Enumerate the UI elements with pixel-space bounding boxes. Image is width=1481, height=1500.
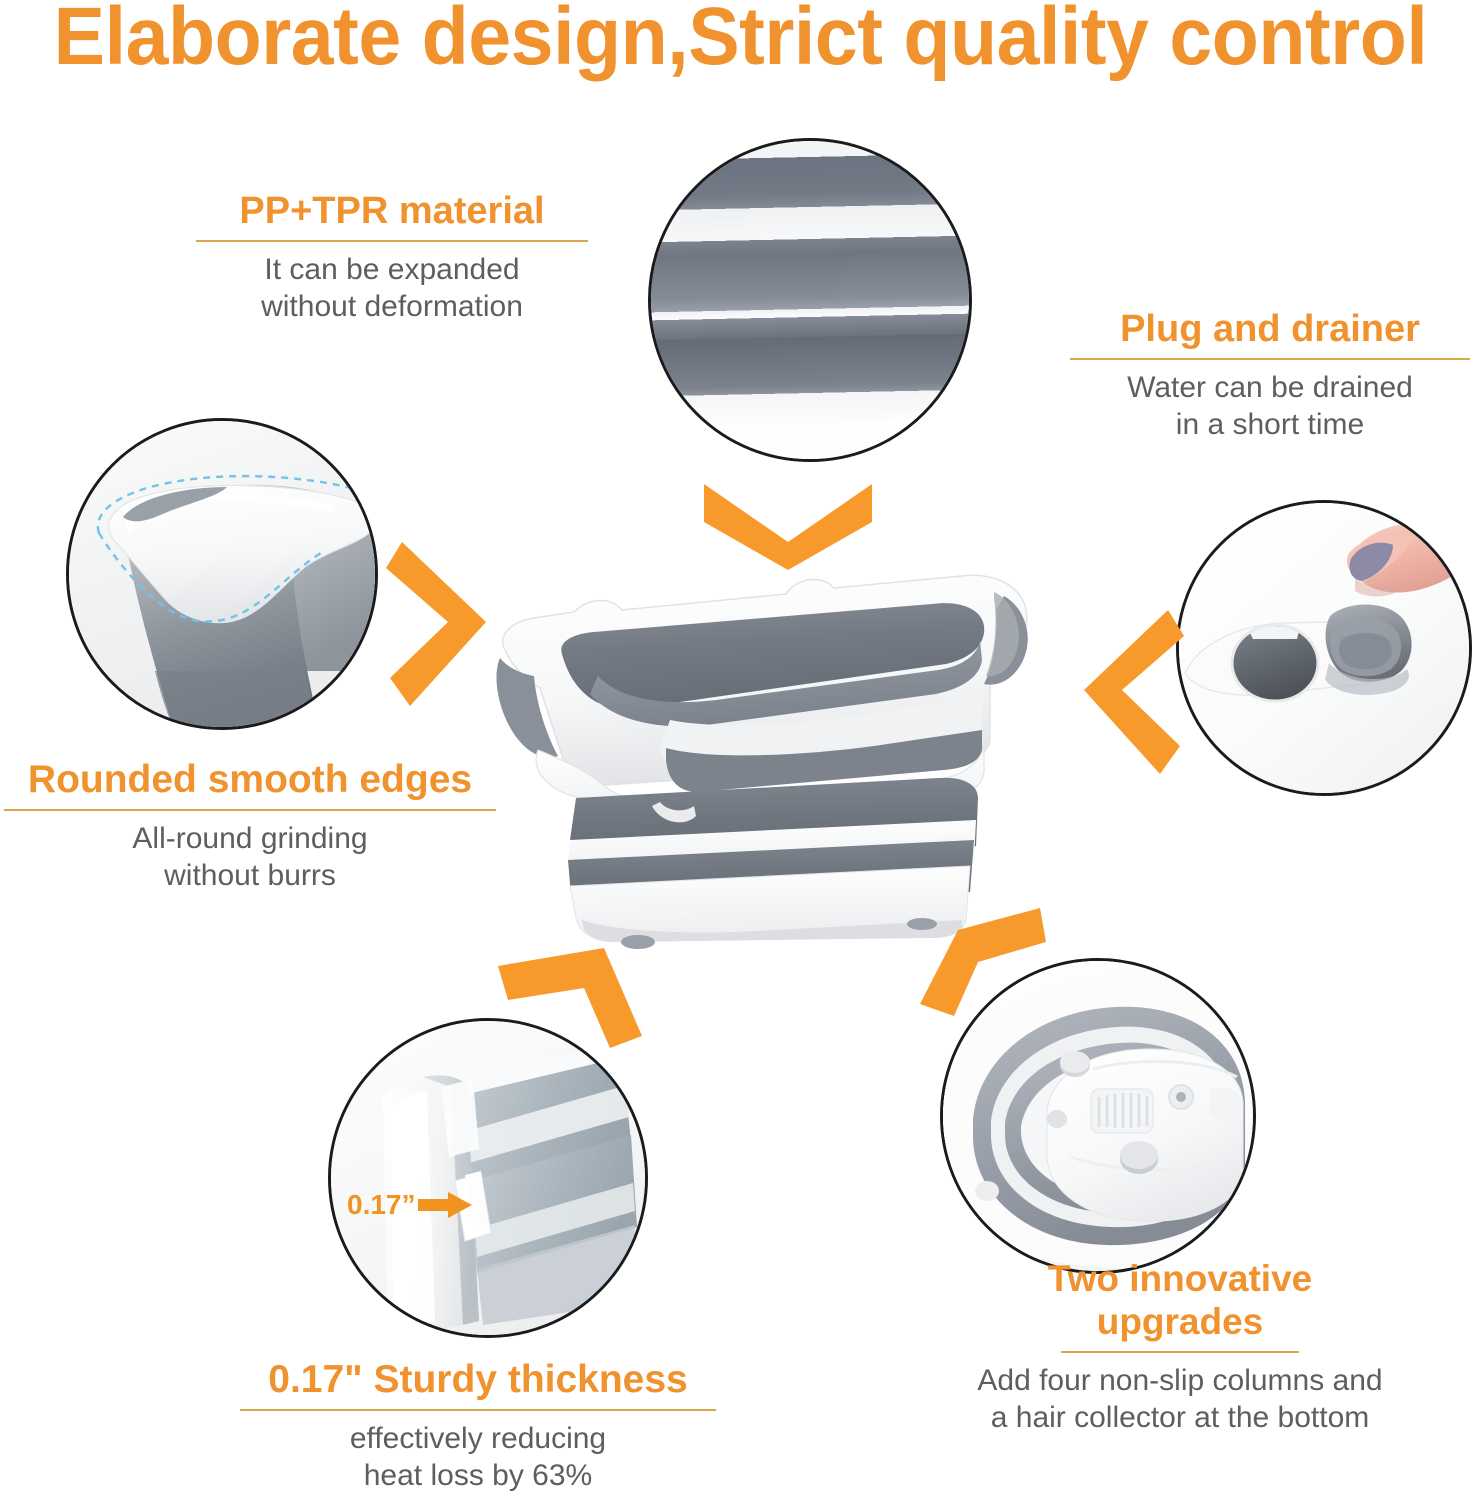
page-title: Elaborate design,Strict quality control bbox=[44, 0, 1436, 80]
plug-photo-circle bbox=[1176, 500, 1472, 796]
feature-upgrades-rule bbox=[1061, 1351, 1299, 1353]
underside-photo-illustration bbox=[943, 961, 1253, 1271]
feature-upgrades-body-line2: a hair collector at the bottom bbox=[900, 1399, 1460, 1436]
arrow-right-icon bbox=[418, 1192, 472, 1218]
stripes-photo-circle bbox=[648, 138, 972, 462]
feature-material-heading: PP+TPR material bbox=[196, 190, 588, 233]
feature-edges-body-line2: without burrs bbox=[4, 857, 496, 894]
striped-wall-texture bbox=[648, 138, 972, 462]
thickness-callout-value: 0.17” bbox=[347, 1189, 416, 1221]
chevron-left-icon bbox=[1078, 606, 1184, 778]
hair-collector-grille bbox=[1091, 1089, 1153, 1133]
feature-upgrades-heading-line1: Two innovative bbox=[900, 1258, 1460, 1301]
feature-edges-rule bbox=[4, 809, 496, 811]
feature-plug-body-line1: Water can be drained bbox=[1070, 369, 1470, 406]
feature-material-body-line2: without deformation bbox=[196, 288, 588, 325]
feature-material: PP+TPR material It can be expanded witho… bbox=[196, 190, 588, 325]
feature-edges: Rounded smooth edges All-round grinding … bbox=[4, 758, 496, 894]
feature-thickness-body-line1: effectively reducing bbox=[240, 1420, 716, 1457]
infographic-page: Elaborate design,Strict quality control … bbox=[0, 0, 1481, 1500]
thickness-photo-illustration bbox=[331, 1021, 645, 1335]
plug-photo-illustration bbox=[1179, 503, 1469, 793]
thickness-callout: 0.17” bbox=[347, 1189, 472, 1221]
feature-upgrades: Two innovative upgrades Add four non-sli… bbox=[900, 1258, 1460, 1436]
feature-upgrades-heading-line2: upgrades bbox=[900, 1301, 1460, 1344]
feature-material-body-line1: It can be expanded bbox=[196, 251, 588, 288]
feature-plug: Plug and drainer Water can be drained in… bbox=[1070, 308, 1470, 443]
feature-edges-heading: Rounded smooth edges bbox=[4, 758, 496, 802]
underside-photo-circle bbox=[940, 958, 1256, 1274]
feature-edges-body-line1: All-round grinding bbox=[4, 820, 496, 857]
feature-material-rule bbox=[196, 240, 588, 242]
feature-thickness: 0.17" Sturdy thickness effectively reduc… bbox=[240, 1358, 716, 1494]
feature-thickness-rule bbox=[240, 1409, 716, 1411]
feature-thickness-body-line2: heat loss by 63% bbox=[240, 1457, 716, 1494]
feature-thickness-heading: 0.17" Sturdy thickness bbox=[240, 1358, 716, 1402]
feature-plug-rule bbox=[1070, 358, 1470, 360]
feature-plug-heading: Plug and drainer bbox=[1070, 308, 1470, 351]
rim-photo-circle bbox=[66, 418, 378, 730]
feature-plug-body-line2: in a short time bbox=[1070, 406, 1470, 443]
rim-photo-illustration bbox=[69, 421, 375, 727]
thickness-photo-circle: 0.17” bbox=[328, 1018, 648, 1338]
feature-upgrades-body-line1: Add four non-slip columns and bbox=[900, 1362, 1460, 1399]
